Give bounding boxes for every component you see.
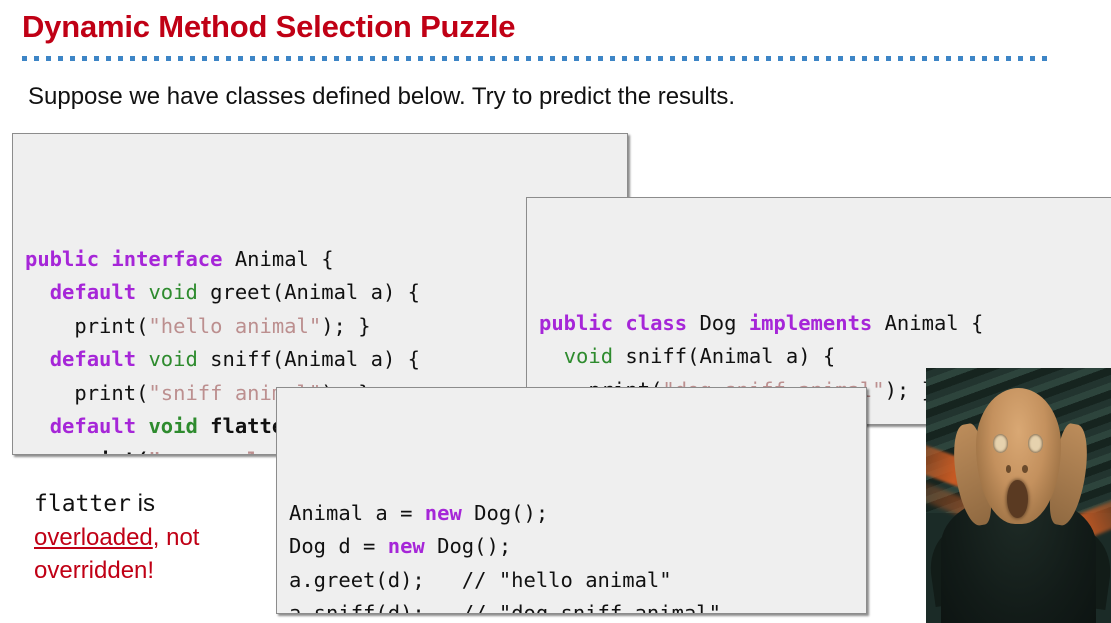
- annotation-comma-not: , not: [153, 524, 200, 551]
- the-scream-image: [926, 368, 1111, 623]
- code-block-main-snippet: Animal a = new Dog();Dog d = new Dog();a…: [276, 387, 867, 614]
- annotation-note: flatter is overloaded, not overridden!: [34, 487, 264, 587]
- code-block-main-snippet-body: Animal a = new Dog();Dog d = new Dog();a…: [277, 455, 866, 614]
- intro-text: Suppose we have classes defined below. T…: [28, 83, 735, 111]
- code-line: a.sniff(d); // "dog sniff animal": [289, 597, 866, 614]
- code-line: a.greet(d); // "hello animal": [289, 564, 866, 598]
- annotation-line-3: overridden!: [34, 554, 264, 587]
- annotation-line-2: overloaded, not: [34, 521, 264, 554]
- code-line: Animal a = new Dog();: [289, 497, 866, 531]
- annotation-overridden: overridden!: [34, 557, 154, 584]
- annotation-code-word: flatter: [34, 491, 131, 517]
- page-title: Dynamic Method Selection Puzzle: [22, 9, 515, 45]
- annotation-line-1: flatter is: [34, 487, 264, 521]
- code-line: public class Dog implements Animal {: [539, 307, 1111, 341]
- annotation-is: is: [131, 490, 155, 517]
- title-divider: [22, 56, 1052, 61]
- scream-nostril: [1022, 465, 1028, 473]
- code-line: Dog d = new Dog();: [289, 530, 866, 564]
- scream-mouth: [1007, 480, 1027, 518]
- annotation-overloaded: overloaded: [34, 524, 153, 551]
- scream-nostril: [1006, 465, 1012, 473]
